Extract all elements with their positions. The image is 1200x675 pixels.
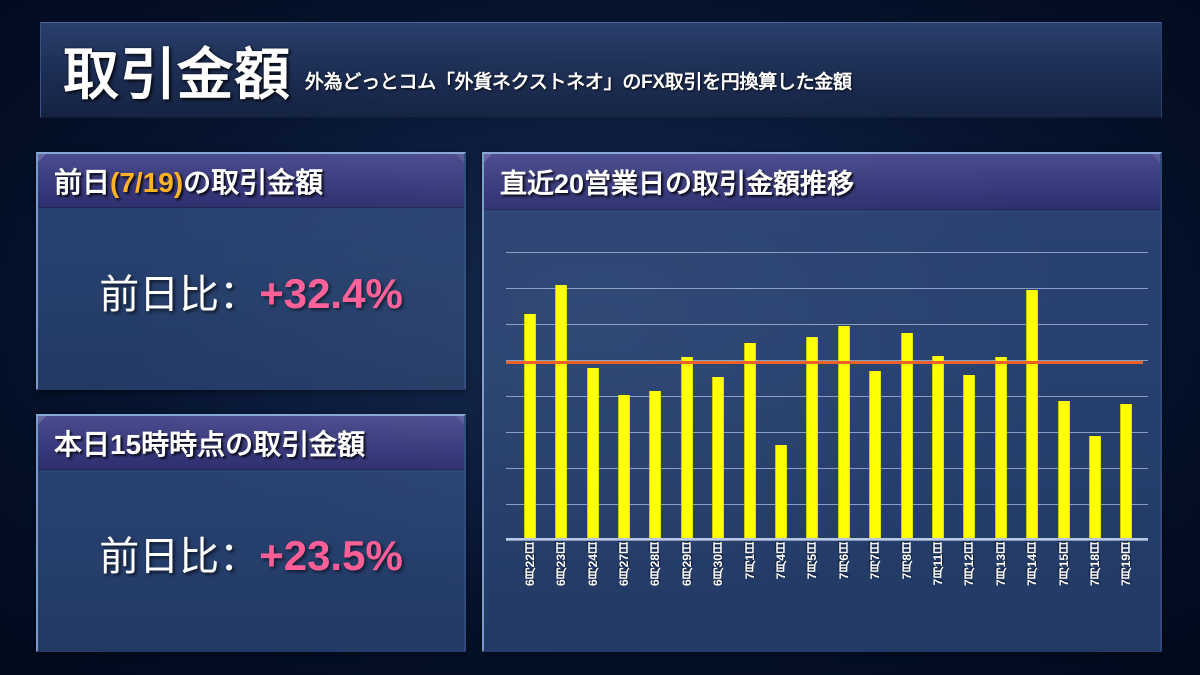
bar-slot[interactable] (514, 252, 545, 540)
gridline (506, 540, 1148, 541)
x-axis-label: 7月12日 (963, 542, 975, 586)
x-axis-label-slot: 6月29日 (671, 542, 702, 642)
x-axis-label: 7月19日 (1120, 542, 1132, 586)
today-title: 本日15時時点の取引金額 (54, 423, 365, 463)
x-axis-label: 7月6日 (838, 542, 850, 579)
bar[interactable] (869, 371, 881, 540)
bar[interactable] (932, 356, 944, 540)
x-axis-label: 7月4日 (775, 542, 787, 579)
x-axis-label-slot: 7月13日 (985, 542, 1016, 642)
bar-slot[interactable] (985, 252, 1016, 540)
bar[interactable] (775, 445, 787, 540)
previous-day-title-suffix: の取引金額 (183, 167, 323, 198)
x-axis-label-slot: 7月18日 (1079, 542, 1110, 642)
x-axis-label: 7月15日 (1058, 542, 1070, 586)
x-axis-label-slot: 7月11日 (922, 542, 953, 642)
bar[interactable] (681, 357, 693, 540)
chart-panel-header: 直近20営業日の取引金額推移 (484, 154, 1160, 210)
bar-slot[interactable] (1111, 252, 1142, 540)
today-panel: 本日15時時点の取引金額 前日比：+23.5% (36, 414, 466, 652)
x-axis-label-slot: 6月22日 (514, 542, 545, 642)
bar-slot[interactable] (577, 252, 608, 540)
previous-day-title-prefix: 前日 (54, 167, 110, 198)
bar[interactable] (806, 337, 818, 540)
x-axis-label-slot: 7月19日 (1111, 542, 1142, 642)
x-axis-label: 6月23日 (555, 542, 567, 586)
bar[interactable] (1120, 404, 1132, 540)
chart-x-axis-labels: 6月22日6月23日6月24日6月27日6月28日6月29日6月30日7月1日7… (506, 542, 1148, 642)
average-line (506, 361, 1143, 364)
x-axis-label-slot: 7月6日 (828, 542, 859, 642)
bar-slot[interactable] (765, 252, 796, 540)
bar[interactable] (1089, 436, 1101, 540)
bar-slot[interactable] (671, 252, 702, 540)
bar[interactable] (838, 326, 850, 540)
chart-panel: 直近20営業日の取引金額推移 6月22日6月23日6月24日6月27日6月28日… (482, 152, 1162, 652)
x-axis-label-slot: 6月27日 (608, 542, 639, 642)
bar-slot[interactable] (1017, 252, 1048, 540)
bar-slot[interactable] (828, 252, 859, 540)
previous-day-panel-header: 前日(7/19)の取引金額 (38, 154, 464, 208)
bar[interactable] (995, 357, 1007, 540)
bar-slot[interactable] (1048, 252, 1079, 540)
x-axis-label-slot: 7月15日 (1048, 542, 1079, 642)
bar-slot[interactable] (954, 252, 985, 540)
previous-day-title: 前日(7/19)の取引金額 (54, 161, 323, 201)
bar-slot[interactable] (545, 252, 576, 540)
chart-bars (506, 252, 1148, 540)
bar-slot[interactable] (608, 252, 639, 540)
bar[interactable] (901, 333, 913, 540)
x-axis-label: 6月27日 (618, 542, 630, 586)
x-axis-label-slot: 7月14日 (1017, 542, 1048, 642)
x-axis-label: 6月30日 (712, 542, 724, 586)
bar[interactable] (524, 314, 536, 540)
x-axis-label: 6月29日 (681, 542, 693, 586)
bar-slot[interactable] (891, 252, 922, 540)
chart-plot (506, 252, 1148, 540)
bar-slot[interactable] (734, 252, 765, 540)
bar-slot[interactable] (797, 252, 828, 540)
x-axis-label: 7月11日 (932, 542, 944, 585)
bar[interactable] (963, 375, 975, 540)
bar-slot[interactable] (702, 252, 733, 540)
today-ratio: 前日比：+23.5% (99, 524, 403, 582)
x-axis-label-slot: 7月1日 (734, 542, 765, 642)
x-axis-label-slot: 6月24日 (577, 542, 608, 642)
x-axis-label: 7月13日 (995, 542, 1007, 586)
x-axis-label: 7月8日 (901, 542, 913, 579)
today-panel-body: 前日比：+23.5% (38, 470, 464, 650)
previous-day-ratio-label: 前日比： (99, 273, 259, 317)
chart-title: 直近20営業日の取引金額推移 (500, 162, 854, 201)
bar[interactable] (1058, 401, 1070, 540)
x-axis-label: 7月7日 (869, 542, 881, 579)
bar[interactable] (712, 377, 724, 540)
x-axis-label: 7月5日 (806, 542, 818, 579)
x-axis-label: 6月24日 (587, 542, 599, 586)
today-ratio-value: +23.5% (259, 532, 403, 579)
x-axis-label-slot: 7月12日 (954, 542, 985, 642)
previous-day-panel: 前日(7/19)の取引金額 前日比：+32.4% (36, 152, 466, 390)
bar[interactable] (649, 391, 661, 540)
page-title: 取引金額 (63, 47, 291, 103)
page-subtitle: 外為どっとコム「外貨ネクストネオ」のFX取引を円換算した金額 (305, 67, 852, 94)
x-axis-label-slot: 6月28日 (640, 542, 671, 642)
x-axis-label-slot: 6月23日 (545, 542, 576, 642)
chart-x-axis (506, 538, 1148, 540)
bar-slot[interactable] (640, 252, 671, 540)
previous-day-ratio: 前日比：+32.4% (99, 262, 403, 320)
bar[interactable] (744, 343, 756, 540)
bar-slot[interactable] (859, 252, 890, 540)
x-axis-label: 6月22日 (524, 542, 536, 586)
today-ratio-label: 前日比： (99, 535, 259, 579)
chart-area: 6月22日6月23日6月24日6月27日6月28日6月29日6月30日7月1日7… (484, 210, 1160, 650)
bar-slot[interactable] (1079, 252, 1110, 540)
bar[interactable] (587, 368, 599, 540)
x-axis-label-slot: 6月30日 (702, 542, 733, 642)
x-axis-label: 7月1日 (744, 542, 756, 579)
slide-canvas: 取引金額 外為どっとコム「外貨ネクストネオ」のFX取引を円換算した金額 前日(7… (0, 0, 1200, 675)
today-panel-header: 本日15時時点の取引金額 (38, 416, 464, 470)
previous-day-date: (7/19) (110, 167, 183, 198)
previous-day-panel-body: 前日比：+32.4% (38, 208, 464, 388)
x-axis-label: 7月18日 (1089, 542, 1101, 586)
bar-slot[interactable] (922, 252, 953, 540)
x-axis-label-slot: 7月5日 (797, 542, 828, 642)
x-axis-label-slot: 7月4日 (765, 542, 796, 642)
x-axis-label: 7月14日 (1026, 542, 1038, 586)
bar[interactable] (618, 395, 630, 540)
previous-day-ratio-value: +32.4% (259, 270, 403, 317)
bar[interactable] (1026, 290, 1038, 540)
header-bar: 取引金額 外為どっとコム「外貨ネクストネオ」のFX取引を円換算した金額 (40, 22, 1162, 118)
x-axis-label-slot: 7月8日 (891, 542, 922, 642)
x-axis-label: 6月28日 (649, 542, 661, 586)
x-axis-label-slot: 7月7日 (859, 542, 890, 642)
bar[interactable] (555, 285, 567, 540)
